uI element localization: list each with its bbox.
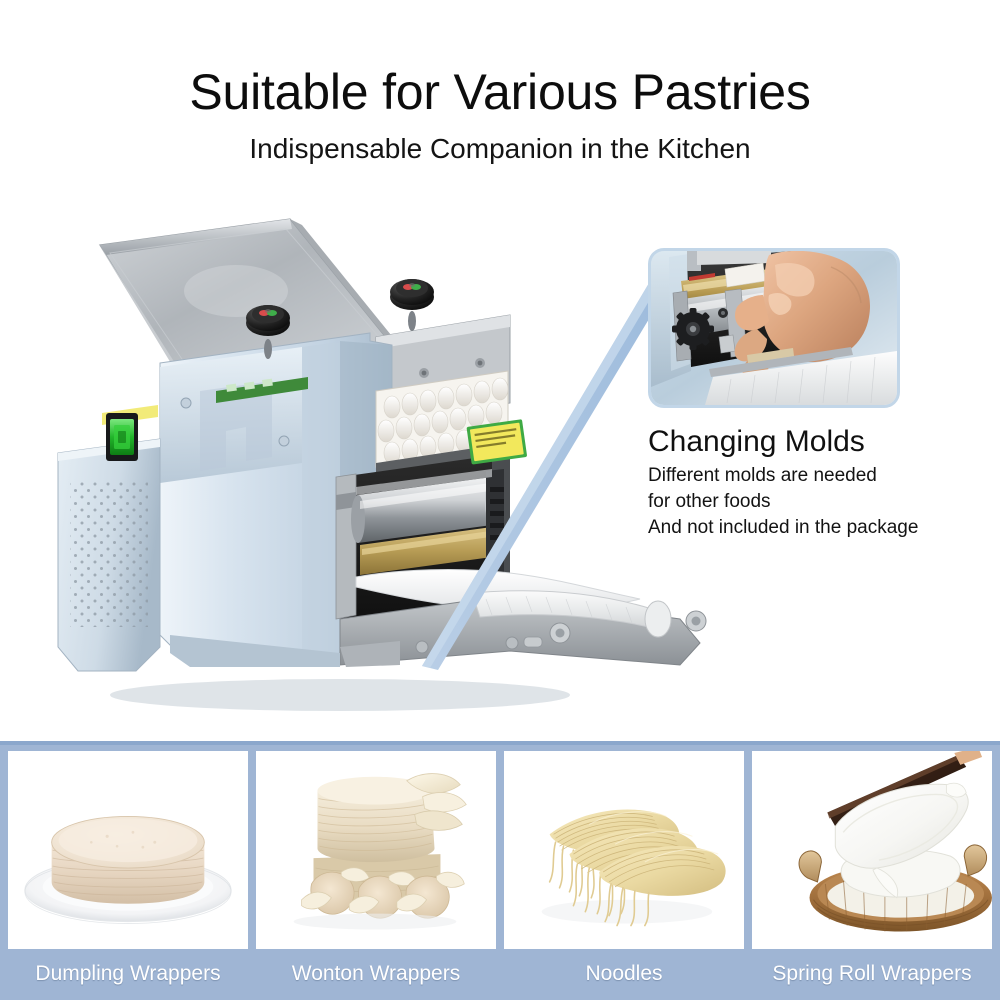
use-cases-band: Dumpling Wrappers Wonton Wrappers Noodle… [0, 741, 1000, 1000]
power-switch[interactable] [106, 413, 138, 461]
use-case-card-wonton[interactable] [256, 751, 496, 949]
feature-line-3: And not included in the package [648, 515, 918, 541]
ventilation-holes [70, 481, 148, 627]
belt-roller-end [645, 601, 671, 637]
hand-changing-mold-icon [651, 251, 897, 405]
tension-knob-right[interactable] [390, 279, 434, 331]
dumpling-wrappers-image [8, 751, 248, 947]
caption-dumpling-wrappers: Dumpling Wrappers [8, 949, 248, 999]
caption-spring-roll-wrappers: Spring Roll Wrappers [752, 949, 992, 999]
feature-line-1: Different molds are needed [648, 463, 918, 489]
page-subtitle: Indispensable Companion in the Kitchen [0, 132, 1000, 166]
use-cases-card-row [8, 751, 992, 949]
inset-photo-card [648, 248, 900, 408]
use-cases-caption-row: Dumpling Wrappers Wonton Wrappers Noodle… [8, 949, 992, 999]
motor-housing [58, 439, 160, 671]
drop-shadow [110, 679, 570, 711]
caption-noodles: Noodles [504, 949, 744, 999]
gear-icon [672, 308, 714, 350]
use-case-card-noodles[interactable] [504, 751, 744, 949]
feature-line-2: for other foods [648, 489, 918, 515]
infographic-page: Suitable for Various Pastries Indispensa… [0, 0, 1000, 1000]
feature-description: Different molds are needed for other foo… [648, 463, 918, 541]
caption-wonton-wrappers: Wonton Wrappers [256, 949, 496, 999]
spring-roll-wrappers-image [752, 751, 992, 947]
use-case-card-spring-roll[interactable] [752, 751, 992, 949]
noodles-image [504, 751, 744, 947]
feature-title: Changing Molds [648, 424, 865, 460]
use-case-card-dumpling[interactable] [8, 751, 248, 949]
warning-label [466, 419, 527, 464]
wonton-wrappers-image [256, 751, 496, 947]
product-illustration [40, 195, 720, 715]
page-title: Suitable for Various Pastries [0, 64, 1000, 120]
